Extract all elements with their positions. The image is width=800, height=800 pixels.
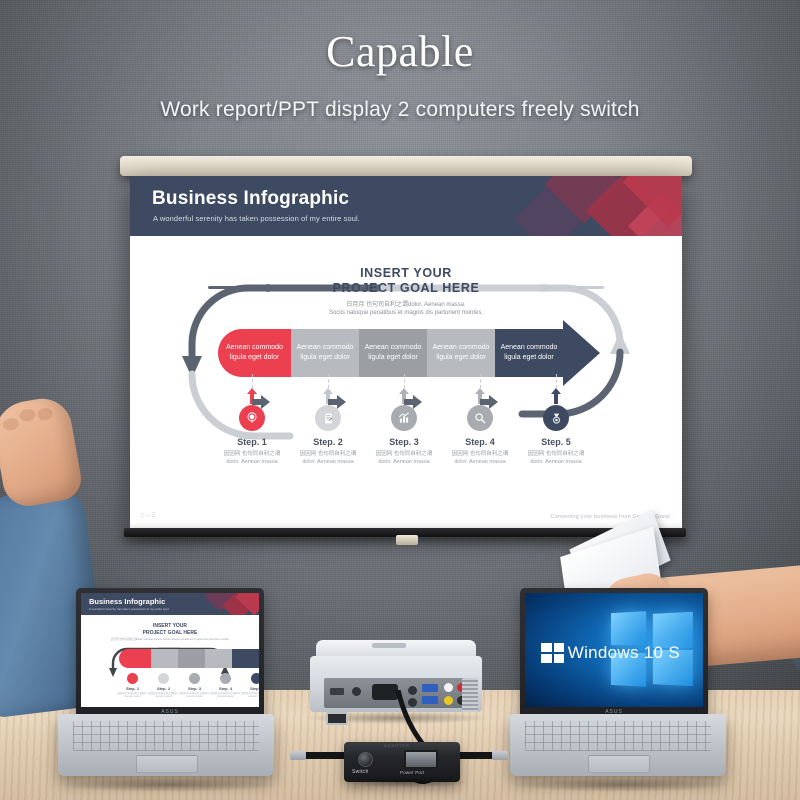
windows-wallpaper: Windows 10 S [525, 593, 703, 707]
step-desc: 因因网 也句同自利之谓dolor. Aenean massa [366, 451, 442, 466]
step-label: Step. 5 [518, 437, 594, 447]
mini-step-desc: 因因网 也句同自利之谓dolor. Aenean massa [179, 692, 210, 698]
laptop-left-lid: Business Infographic A wonderful serenit… [76, 588, 264, 716]
mini-slide-header: Business Infographic A wonderful serenit… [81, 593, 259, 615]
mini-band-segment [178, 649, 205, 668]
band-segment: Aenean commodo ligula eget dolor [291, 329, 359, 377]
mini-step-label: Step. 1 [117, 686, 148, 691]
band-segment-label: Aenean commodo ligula eget dolor [499, 343, 559, 363]
slide-subtitle: A wonderful serenity has taken possessio… [153, 214, 360, 223]
chevron-right-icon [404, 395, 422, 409]
knuckle [37, 407, 54, 421]
goal-desc-1: 日月月 也句司自利之谓dolor. Aenean massa. [130, 301, 682, 309]
slide-header: Business Infographic A wonderful serenit… [130, 176, 682, 236]
mini-step-label: Step. 5 [241, 686, 259, 691]
laptop-left-keyboard[interactable] [73, 721, 259, 751]
scene: Capable Work report/PPT display 2 comput… [0, 0, 800, 800]
goal-line-2: PROJECT GOAL HERE [130, 281, 682, 296]
mini-step-desc: 因因网 也句同自利之谓dolor. Aenean massa [210, 692, 241, 698]
banner-title: Capable [0, 26, 800, 77]
band-segment-label: Aenean commodo ligula eget dolor [363, 343, 423, 363]
switch-top-mark: ADAPTER [384, 743, 410, 748]
mini-step-label: Step. 3 [179, 686, 210, 691]
switch-button[interactable] [358, 752, 373, 767]
goal-desc-2: Sociis natoque penatibus et magnis dis p… [130, 309, 682, 317]
step-desc: 因因网 也句同自利之谓dolor. Aenean massa [214, 451, 290, 466]
left-fist [0, 394, 84, 510]
step-label: Step. 4 [442, 437, 518, 447]
goal-line-1: INSERT YOUR [130, 266, 682, 281]
laptop-right-display[interactable]: Windows 10 S [525, 593, 703, 707]
mini-band-segment [232, 649, 259, 668]
mini-goal-line-2: PROJECT GOAL HERE [81, 630, 259, 637]
step-label: Step. 1 [214, 437, 290, 447]
laptop-left-display[interactable]: Business Infographic A wonderful serenit… [81, 593, 259, 707]
mini-step-icon [251, 673, 259, 684]
port-serial [330, 688, 344, 695]
knuckle [2, 417, 20, 432]
step-desc: 因因网 也句同自利之谓dolor. Aenean massa [290, 451, 366, 466]
mini-slide-subtitle: A wonderful serenity has taken possessio… [89, 607, 169, 611]
mini-header-pattern [195, 593, 259, 615]
laptop-right-keyboard[interactable] [525, 721, 711, 751]
band-segment: Aenean commodo ligula eget dolor [359, 329, 427, 377]
laptop-right-base [510, 714, 726, 776]
band-arrowhead [563, 320, 600, 386]
banner-subtitle: Work report/PPT display 2 computers free… [0, 98, 800, 122]
projection-screen: Business Infographic A wonderful serenit… [130, 176, 682, 528]
switch-button-label: Switch [352, 769, 369, 775]
projection-screen-handle[interactable] [396, 535, 418, 545]
band-segment: Aenean commodo ligula eget dolor [495, 329, 563, 377]
laptop-left[interactable]: Business Infographic A wonderful serenit… [58, 588, 274, 788]
chevron-right-icon [480, 395, 498, 409]
windows-os-label: Windows 10 S [568, 643, 680, 663]
mini-step-label: Step. 2 [148, 686, 179, 691]
mini-band-segment [119, 649, 151, 668]
step-desc: 因因网 也句同自利之谓dolor. Aenean massa [442, 451, 518, 466]
laptop-left-base [58, 714, 274, 776]
mini-goal-line-1: INSERT YOUR [81, 623, 259, 630]
laptop-right-trackpad[interactable] [588, 755, 650, 773]
process-band: Aenean commodo ligula eget dolor Aenean … [218, 329, 600, 377]
slide-corner-mark: ◇ ⌂ ⌸ [140, 512, 155, 520]
cable-left [300, 752, 348, 759]
laptop-right-lid: Windows 10 S ASUS [520, 588, 708, 716]
steps-row: Step. 1 因因网 也句同自利之谓dolor. Aenean massa S… [218, 388, 600, 518]
band-segment-label: Aenean commodo ligula eget dolor [295, 343, 355, 363]
chevron-right-icon [252, 395, 270, 409]
step-desc: 因因网 也句同自利之谓dolor. Aenean massa [518, 451, 594, 466]
mini-steps-row: Step. 1因因网 也句同自利之谓dolor. Aenean massa St… [117, 673, 259, 707]
mini-band-segment [205, 649, 232, 668]
mini-step-desc: 因因网 也句同自利之谓dolor. Aenean massa [148, 692, 179, 698]
switch-shadow [340, 776, 470, 788]
header-geometric-pattern [502, 176, 682, 236]
projection-screen-roller [120, 156, 692, 176]
laptop-left-shadow [58, 778, 278, 792]
connector-right [492, 751, 508, 760]
mini-step-desc: 因因网 也句同自利之谓dolor. Aenean massa [117, 692, 148, 698]
mini-step-icon [220, 673, 231, 684]
goal-block: INSERT YOUR PROJECT GOAL HERE 日月月 也句司自利之… [130, 266, 682, 317]
medal-icon [543, 405, 569, 431]
band-segment-label: Aenean commodo ligula eget dolor [222, 343, 287, 363]
mini-slide-title: Business Infographic [89, 597, 165, 606]
step-item: Step. 5 因因网 也句同自利之谓dolor. Aenean massa [518, 388, 594, 466]
laptop-right[interactable]: Windows 10 S ASUS [510, 588, 726, 788]
mini-step-desc: 因因网 也句同自利之谓dolor. Aenean massa [241, 692, 259, 698]
knuckle [19, 408, 37, 423]
mini-step-icon [158, 673, 169, 684]
windows-logo-icon [541, 643, 564, 662]
band-segment: Aenean commodo ligula eget dolor [427, 329, 495, 377]
up-arrow-icon [518, 388, 594, 404]
step-label: Step. 2 [290, 437, 366, 447]
mini-step-label: Step. 4 [210, 686, 241, 691]
slide-title: Business Infographic [152, 188, 349, 210]
band-segment: Aenean commodo ligula eget dolor [218, 329, 291, 377]
band-segment-label: Aenean commodo ligula eget dolor [431, 343, 491, 363]
laptop-right-shadow [510, 778, 730, 792]
switch-port [404, 750, 438, 769]
mini-band-segment [151, 649, 178, 668]
step-label: Step. 3 [366, 437, 442, 447]
projector-vent [372, 643, 406, 648]
switch-port-label: Power Port [400, 770, 424, 775]
projector-power-socket [326, 712, 348, 725]
connector-left [290, 751, 306, 760]
mini-step-icon [189, 673, 200, 684]
mini-goal-desc: 日月月 也句司自利之谓dolor. Aenean massa. Sociis n… [81, 638, 259, 642]
laptop-left-slide: Business Infographic A wonderful serenit… [81, 593, 259, 707]
mini-process-band [119, 649, 259, 668]
slide-canvas: Business Infographic A wonderful serenit… [130, 176, 682, 528]
laptop-left-trackpad[interactable] [136, 755, 198, 773]
chevron-right-icon [328, 395, 346, 409]
mini-step-icon [127, 673, 138, 684]
